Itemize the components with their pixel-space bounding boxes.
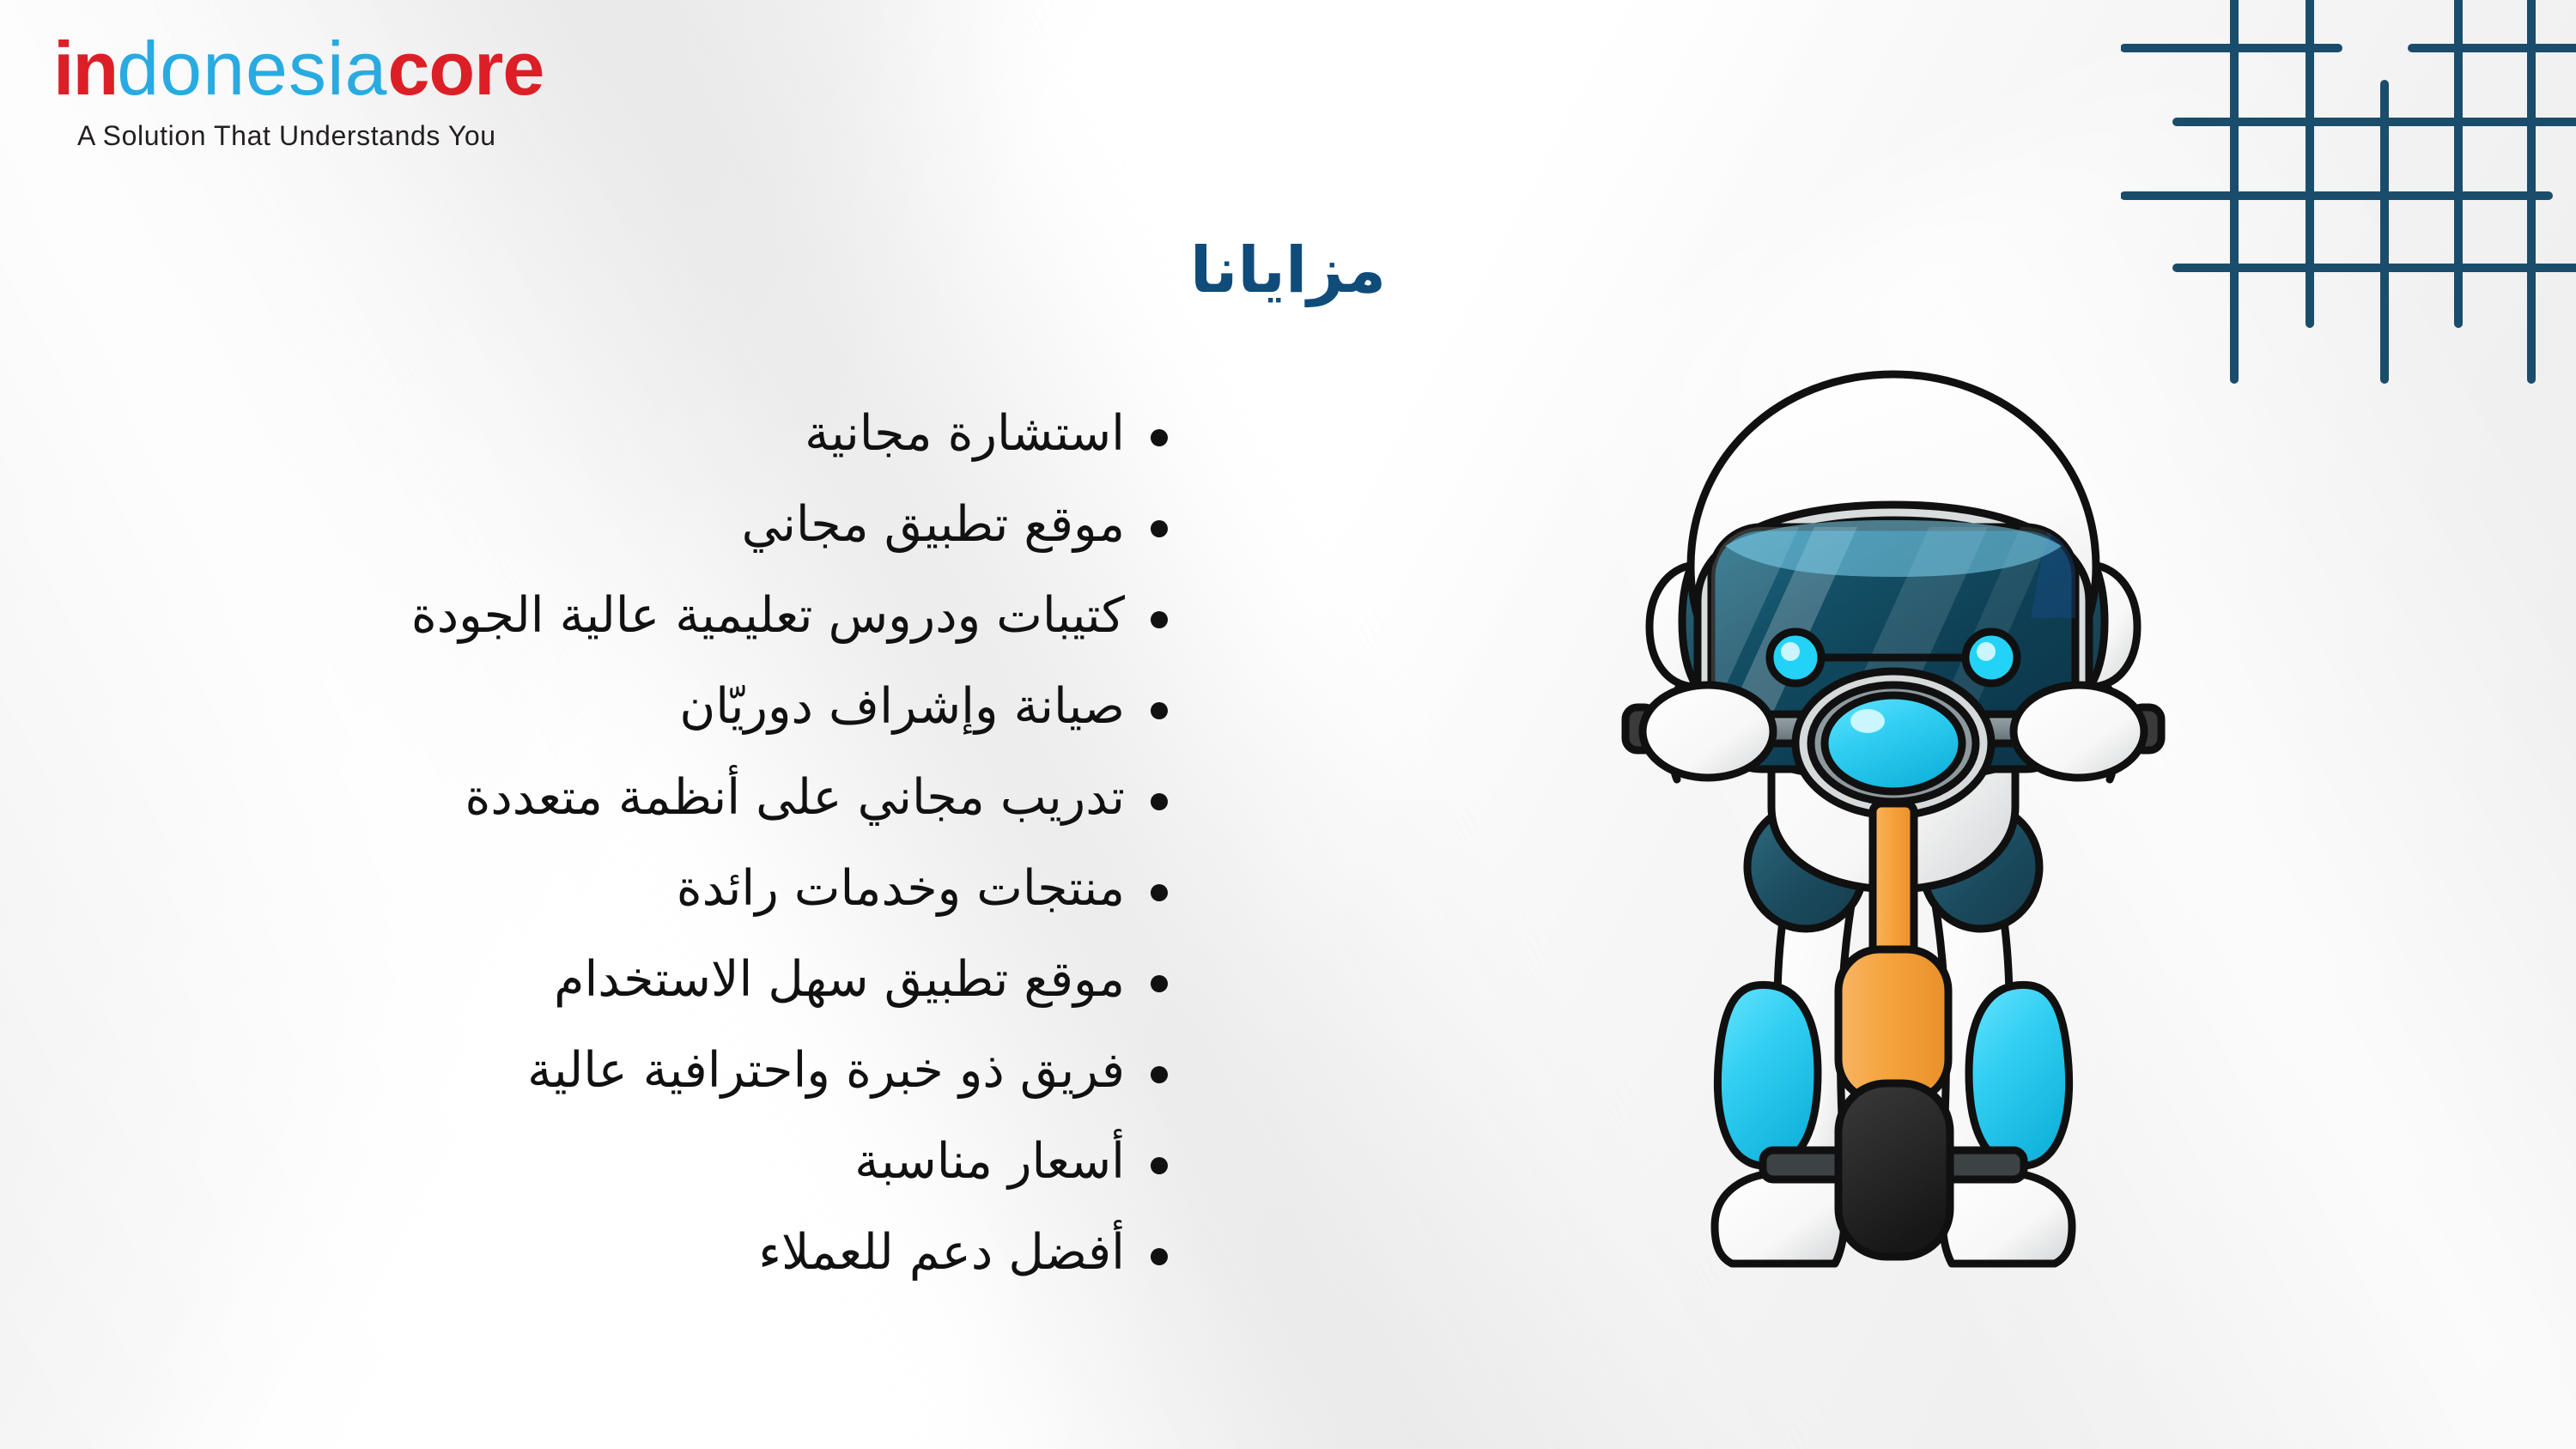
scooter-headlight-lens [1825, 695, 1962, 791]
list-item: موقع تطبيق مجاني [60, 479, 1168, 570]
robot-mascot-illustration [1584, 343, 2202, 1382]
page-title: مزايانا [0, 233, 2576, 307]
robot-on-scooter-icon [1584, 343, 2202, 1382]
robot-right-eye-glint [1977, 642, 1996, 661]
logo-text-in: in [53, 26, 117, 111]
list-item: استشارة مجانية [60, 388, 1168, 479]
scooter-headlight-glint [1850, 709, 1885, 733]
robot-left-eye-glint [1781, 642, 1800, 661]
robot-left-hand [1643, 685, 1773, 778]
robot-left-foot [1715, 1173, 1844, 1264]
list-item: منتجات وخدمات رائدة [60, 843, 1168, 934]
scooter-front-wheel [1838, 1083, 1950, 1257]
advantages-list: استشارة مجانية موقع تطبيق مجاني كتيبات و… [60, 388, 1168, 1298]
scooter-fork-body [1838, 949, 1948, 1100]
robot-right-hand [2014, 685, 2144, 778]
robot-right-thigh-pad [1969, 985, 2069, 1166]
list-item: تدريب مجاني على أنظمة متعددة [60, 752, 1168, 843]
list-item: أفضل دعم للعملاء [60, 1207, 1168, 1298]
logo-wordmark: indonesiacore [53, 31, 792, 106]
list-item: موقع تطبيق سهل الاستخدام [60, 934, 1168, 1025]
list-item: أسعار مناسبة [60, 1116, 1168, 1207]
logo-text-core: core [387, 26, 544, 111]
robot-left-thigh-pad [1717, 985, 1818, 1166]
list-item: فريق ذو خبرة واحترافية عالية [60, 1025, 1168, 1116]
robot-right-foot [1942, 1173, 2072, 1264]
list-item: كتيبات ودروس تعليمية عالية الجودة [60, 570, 1168, 661]
slide-canvas: indonesiacore A Solution That Understand… [0, 0, 2576, 1449]
list-item: صيانة وإشراف دوريّان [60, 661, 1168, 752]
logo-text-donesia: donesia [117, 26, 387, 111]
scooter-fork-stem [1873, 803, 1914, 963]
logo-tagline: A Solution That Understands You [77, 120, 792, 152]
brand-logo: indonesiacore A Solution That Understand… [53, 31, 792, 152]
